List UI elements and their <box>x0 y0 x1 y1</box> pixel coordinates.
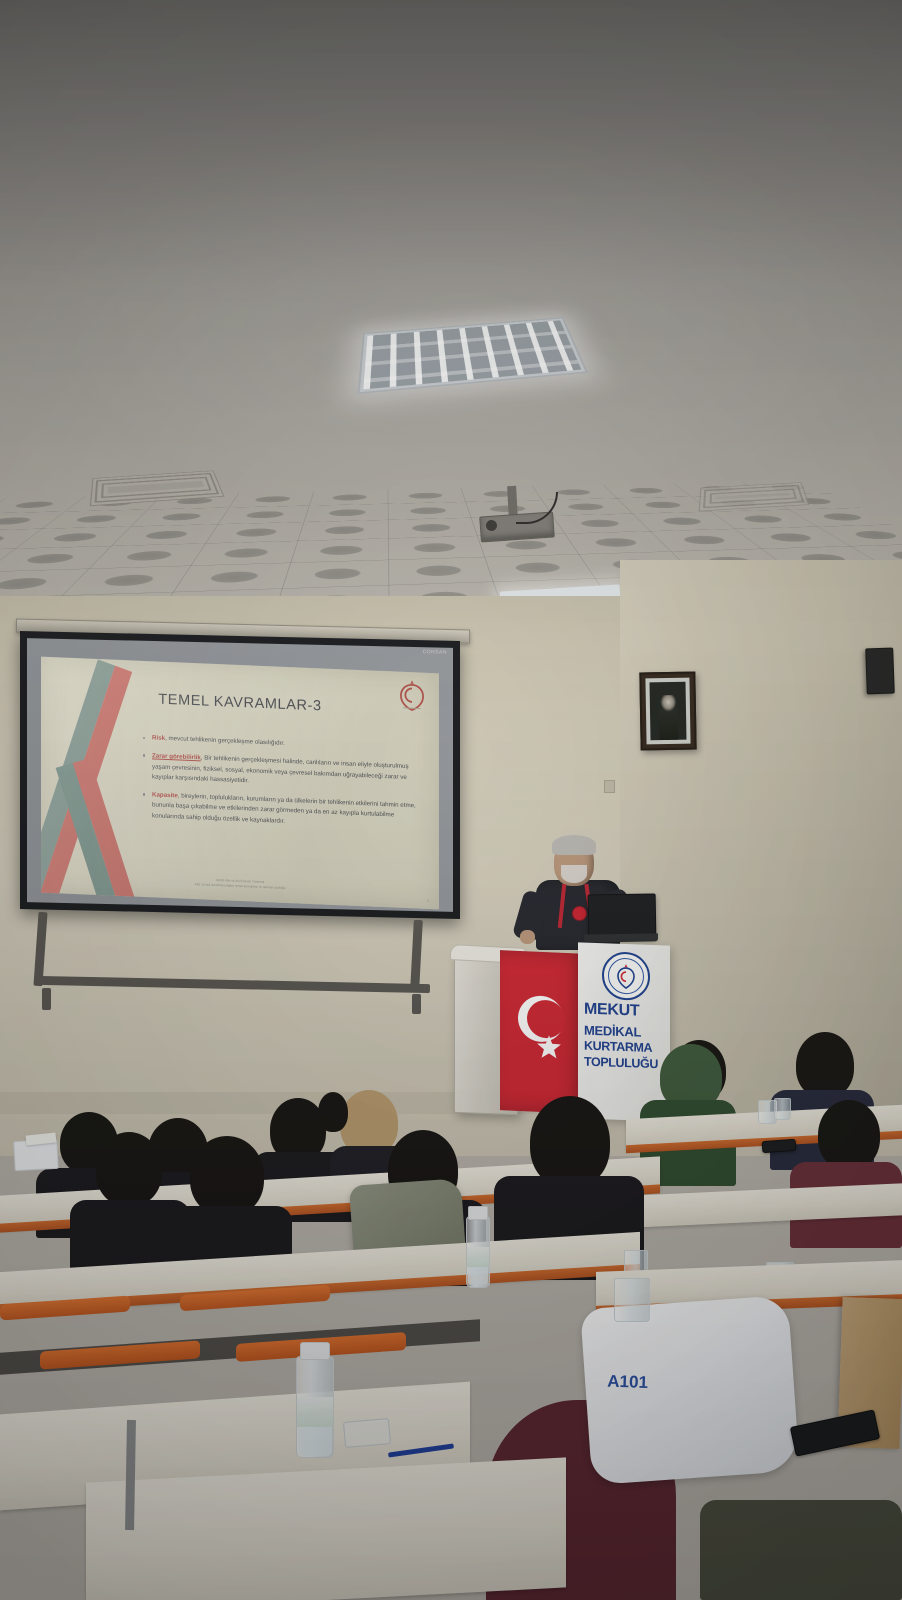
slide-bullet-2: Zarar görebilirlik, Bir tehlikenin gerçe… <box>143 751 419 795</box>
water-bottle-1-cap[interactable] <box>468 1206 488 1220</box>
wall-speaker <box>865 648 895 695</box>
presenter-emblem-badge <box>572 906 587 921</box>
slide-bullet-3-text: , bireylerin, toplulukların, kurumların … <box>152 792 416 825</box>
water-bottle-2[interactable] <box>296 1356 334 1458</box>
screen-foot-right <box>412 994 421 1014</box>
water-bottle-2-cap[interactable] <box>300 1342 330 1360</box>
lecture-hall-photo: CONSAN <box>0 0 902 1600</box>
suspended-ceiling <box>0 0 902 640</box>
laptop-base <box>584 933 658 942</box>
audience-head-r4e <box>818 1100 880 1170</box>
screen-brand-label: CONSAN <box>423 649 447 656</box>
audience-head-r3b <box>190 1136 264 1216</box>
audience-head-r3a <box>96 1132 162 1206</box>
audience-head-r4d <box>318 1092 348 1132</box>
presentation-slide: TEMEL KAVRAMLAR-3 Risk, mevcut tehlikeni… <box>41 657 439 910</box>
audience-head-r3d <box>530 1096 610 1188</box>
desk-leg-1 <box>125 1420 136 1530</box>
audience-head-r5b <box>796 1032 854 1098</box>
mekut-society-emblem <box>602 951 650 1001</box>
banner-line-2: MEDİKAL <box>584 1023 668 1041</box>
presenter-head <box>554 838 594 886</box>
mekut-banner: MEKUT MEDİKAL KURTARMA TOPLULUĞU <box>578 942 670 1121</box>
wall-switch[interactable] <box>604 780 615 793</box>
desk-row-foreground-lower <box>86 1457 566 1600</box>
eyeglasses[interactable] <box>343 1418 391 1448</box>
plastic-shopping-bag[interactable]: A101 <box>580 1295 800 1485</box>
screen-foot-left <box>42 988 51 1010</box>
smartphone-2[interactable] <box>790 1409 880 1456</box>
emblem-figure <box>614 962 638 991</box>
plastic-bag-label: A101 <box>607 1372 648 1393</box>
slide-bullet-3: Kapasite, bireylerin, toplulukların, kur… <box>143 790 419 834</box>
smartphone-1[interactable] <box>762 1139 797 1153</box>
presenter-left-hand <box>520 930 535 944</box>
drinking-glass-3[interactable] <box>774 1098 791 1120</box>
laptop-screen <box>588 893 657 938</box>
slide-page-number: 3 <box>427 899 429 903</box>
drinking-glass-6[interactable] <box>614 1278 650 1322</box>
screen-surface: CONSAN <box>27 638 453 912</box>
projection-screen: CONSAN <box>20 631 460 919</box>
audience-body-foreground-right <box>700 1500 902 1600</box>
slide-bullet-list: Risk, mevcut tehlikenin gerçekleşme olas… <box>103 731 419 840</box>
flag-crescent-inner <box>527 999 565 1039</box>
slide-bullet-1-keyword: Risk <box>152 735 165 743</box>
banner-line-4: TOPLULUĞU <box>584 1055 668 1072</box>
slide-bullet-3-keyword: Kapasite <box>152 791 178 799</box>
banner-line-1: MEKUT <box>584 1001 668 1022</box>
flag-star <box>536 1034 562 1061</box>
banner-line-3: KURTARMA <box>584 1039 668 1056</box>
water-bottle-1[interactable] <box>466 1216 490 1288</box>
slide-bullet-1-text: , mevcut tehlikenin gerçekleşme olasılığ… <box>165 735 285 747</box>
slide-bullet-2-keyword: Zarar görebilirlik <box>152 752 201 761</box>
framed-portrait <box>639 672 696 751</box>
turkish-flag <box>500 950 586 1114</box>
